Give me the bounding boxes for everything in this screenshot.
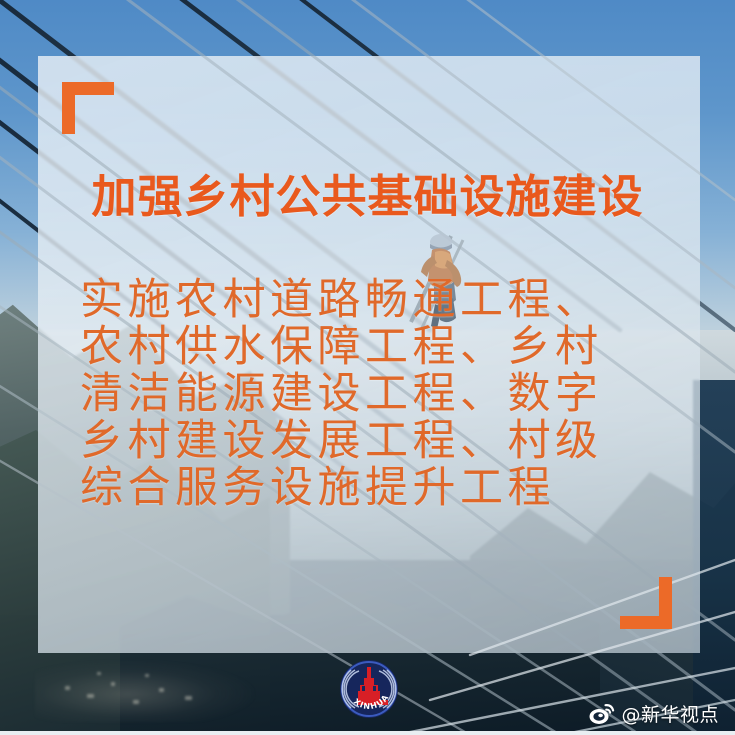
weibo-handle: @新华视点 <box>621 700 719 727</box>
body-line: 清洁能源建设工程、数字 <box>80 371 665 418</box>
corner-bracket-top-left-icon <box>62 82 114 134</box>
body-line: 综合服务设施提升工程 <box>80 465 665 512</box>
weibo-logo-icon <box>589 703 615 725</box>
poster-body: 实施农村道路畅通工程、 农村供水保障工程、乡村 清洁能源建设工程、数字 乡村建设… <box>80 277 665 512</box>
body-line: 乡村建设发展工程、村级 <box>80 418 665 465</box>
xinhua-logo: XINHUA <box>338 658 400 720</box>
body-line: 农村供水保障工程、乡村 <box>80 324 665 371</box>
weibo-watermark: @新华视点 <box>589 700 719 727</box>
corner-bracket-bottom-right-icon <box>620 577 672 629</box>
bottom-edge-strip <box>0 731 735 735</box>
poster-title: 加强乡村公共基础设施建设 <box>0 160 735 225</box>
body-line: 实施农村道路畅通工程、 <box>80 277 665 324</box>
poster-canvas: 加强乡村公共基础设施建设 实施农村道路畅通工程、 农村供水保障工程、乡村 清洁能… <box>0 0 735 735</box>
